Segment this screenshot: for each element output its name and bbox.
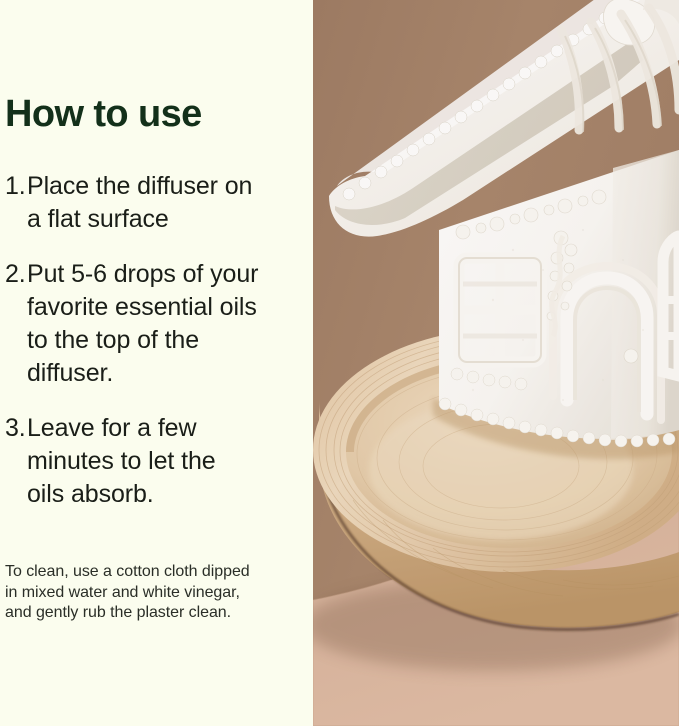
list-item: 3. Leave for a few minutes to let the oi… <box>0 412 300 511</box>
instructions-panel: How to use 1. Place the diffuser on a fl… <box>0 0 313 726</box>
product-instructions-screenshot: How to use 1. Place the diffuser on a fl… <box>0 0 679 726</box>
list-item: 1. Place the diffuser on a flat surface <box>0 170 300 236</box>
product-photo-illustration <box>313 0 679 726</box>
list-item: 2. Put 5-6 drops of your favorite essent… <box>0 258 300 390</box>
care-instructions-note: To clean, use a cotton cloth dipped in m… <box>5 562 257 624</box>
how-to-use-steps: 1. Place the diffuser on a flat surface … <box>0 170 300 511</box>
step-text: Leave for a few minutes to let the oils … <box>27 412 259 511</box>
step-number: 3. <box>0 412 27 445</box>
page-title: How to use <box>5 92 202 136</box>
step-number: 1. <box>0 170 27 203</box>
step-number: 2. <box>0 258 27 291</box>
photo-vignette <box>313 0 679 726</box>
step-text: Put 5-6 drops of your favorite essential… <box>27 258 259 390</box>
product-photo <box>313 0 679 726</box>
step-text: Place the diffuser on a flat surface <box>27 170 259 236</box>
